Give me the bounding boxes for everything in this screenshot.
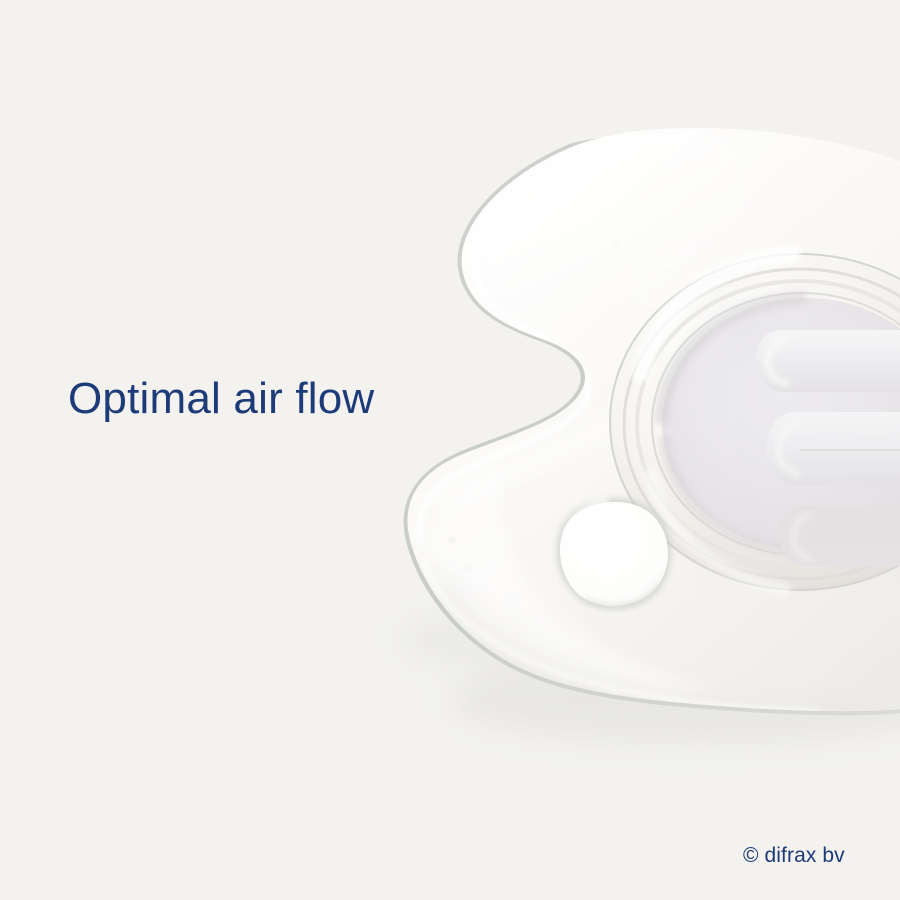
surface-speck-a [449,537,455,543]
surface-speck-c [614,240,619,245]
surface-speck-b [466,566,471,571]
air-vent-hole-group [556,498,671,609]
pacifier-product-image [0,0,900,900]
copyright-notice: © difrax bv [743,845,845,866]
teat-soft-shading [700,290,900,580]
page-title: Optimal air flow [68,377,374,421]
product-marketing-image: Optimal air flow © difrax bv [0,0,900,900]
pacifier-shield-body [380,128,900,780]
